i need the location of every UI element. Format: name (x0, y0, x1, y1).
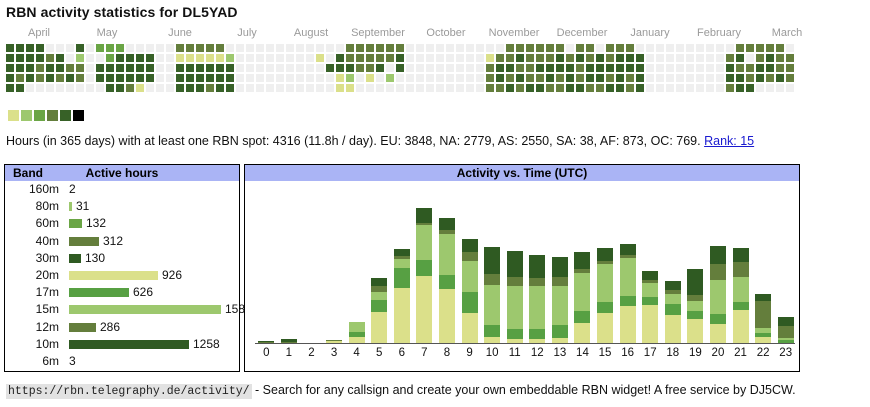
heatmap-day-cell[interactable] (506, 84, 514, 92)
heatmap-day-cell[interactable] (786, 64, 794, 72)
heatmap-day-cell[interactable] (166, 54, 174, 62)
heatmap-day-cell[interactable] (736, 64, 744, 72)
heatmap-day-cell[interactable] (316, 84, 324, 92)
heatmap-day-cell[interactable] (196, 64, 204, 72)
heatmap-day-cell[interactable] (86, 54, 94, 62)
heatmap-day-cell[interactable] (236, 84, 244, 92)
heatmap-day-cell[interactable] (626, 44, 634, 52)
heatmap-day-cell[interactable] (566, 64, 574, 72)
heatmap-day-cell[interactable] (136, 44, 144, 52)
heatmap-day-cell[interactable] (256, 74, 264, 82)
hour-bar[interactable] (371, 278, 387, 343)
heatmap-day-cell[interactable] (546, 64, 554, 72)
heatmap-day-cell[interactable] (286, 64, 294, 72)
heatmap-day-cell[interactable] (196, 74, 204, 82)
heatmap-day-cell[interactable] (286, 54, 294, 62)
heatmap-day-cell[interactable] (186, 54, 194, 62)
hour-bar[interactable] (439, 218, 455, 343)
heatmap-day-cell[interactable] (556, 44, 564, 52)
heatmap-day-cell[interactable] (616, 64, 624, 72)
heatmap-day-cell[interactable] (716, 54, 724, 62)
heatmap-day-cell[interactable] (786, 74, 794, 82)
heatmap-day-cell[interactable] (86, 64, 94, 72)
heatmap-day-cell[interactable] (536, 54, 544, 62)
heatmap-day-cell[interactable] (46, 44, 54, 52)
heatmap-day-cell[interactable] (376, 44, 384, 52)
heatmap-day-cell[interactable] (426, 64, 434, 72)
heatmap-day-cell[interactable] (46, 74, 54, 82)
heatmap-day-cell[interactable] (596, 54, 604, 62)
heatmap-day-cell[interactable] (96, 74, 104, 82)
heatmap-day-cell[interactable] (726, 54, 734, 62)
heatmap-day-cell[interactable] (386, 74, 394, 82)
heatmap-day-cell[interactable] (626, 54, 634, 62)
heatmap-day-cell[interactable] (756, 54, 764, 62)
heatmap-day-cell[interactable] (156, 74, 164, 82)
heatmap-day-cell[interactable] (156, 64, 164, 72)
heatmap-day-cell[interactable] (786, 44, 794, 52)
heatmap-day-cell[interactable] (426, 54, 434, 62)
heatmap-day-cell[interactable] (506, 64, 514, 72)
heatmap-day-cell[interactable] (136, 54, 144, 62)
heatmap-day-cell[interactable] (516, 44, 524, 52)
heatmap-day-cell[interactable] (336, 44, 344, 52)
heatmap-day-cell[interactable] (306, 74, 314, 82)
heatmap-day-cell[interactable] (336, 54, 344, 62)
heatmap-day-cell[interactable] (526, 64, 534, 72)
heatmap-day-cell[interactable] (116, 74, 124, 82)
heatmap-day-cell[interactable] (96, 54, 104, 62)
heatmap-day-cell[interactable] (606, 54, 614, 62)
heatmap-day-cell[interactable] (146, 74, 154, 82)
heatmap-day-cell[interactable] (216, 54, 224, 62)
heatmap-day-cell[interactable] (446, 64, 454, 72)
heatmap-day-cell[interactable] (306, 54, 314, 62)
heatmap-day-cell[interactable] (676, 54, 684, 62)
heatmap-day-cell[interactable] (16, 84, 24, 92)
heatmap-day-cell[interactable] (316, 44, 324, 52)
heatmap-day-cell[interactable] (76, 74, 84, 82)
heatmap-day-cell[interactable] (336, 84, 344, 92)
hour-bar[interactable] (755, 294, 771, 343)
heatmap-day-cell[interactable] (306, 64, 314, 72)
heatmap-day-cell[interactable] (546, 44, 554, 52)
heatmap-day-cell[interactable] (116, 44, 124, 52)
heatmap-day-cell[interactable] (356, 44, 364, 52)
heatmap-day-cell[interactable] (516, 74, 524, 82)
heatmap-day-cell[interactable] (36, 64, 44, 72)
heatmap-day-cell[interactable] (406, 64, 414, 72)
heatmap-day-cell[interactable] (706, 64, 714, 72)
heatmap-day-cell[interactable] (696, 64, 704, 72)
heatmap-day-cell[interactable] (686, 54, 694, 62)
heatmap-day-cell[interactable] (676, 84, 684, 92)
heatmap-day-cell[interactable] (406, 44, 414, 52)
hour-bar[interactable] (597, 248, 613, 343)
heatmap-day-cell[interactable] (536, 84, 544, 92)
heatmap-day-cell[interactable] (746, 54, 754, 62)
heatmap-day-cell[interactable] (786, 84, 794, 92)
heatmap-day-cell[interactable] (516, 54, 524, 62)
heatmap-day-cell[interactable] (26, 64, 34, 72)
heatmap-day-cell[interactable] (206, 54, 214, 62)
heatmap-day-cell[interactable] (136, 64, 144, 72)
heatmap-day-cell[interactable] (776, 74, 784, 82)
heatmap-day-cell[interactable] (176, 64, 184, 72)
heatmap-day-cell[interactable] (26, 54, 34, 62)
heatmap-day-cell[interactable] (426, 84, 434, 92)
heatmap-day-cell[interactable] (716, 44, 724, 52)
heatmap-day-cell[interactable] (646, 54, 654, 62)
heatmap-day-cell[interactable] (126, 54, 134, 62)
heatmap-day-cell[interactable] (306, 84, 314, 92)
heatmap-day-cell[interactable] (626, 74, 634, 82)
heatmap-day-cell[interactable] (456, 74, 464, 82)
heatmap-day-cell[interactable] (776, 54, 784, 62)
heatmap-day-cell[interactable] (596, 64, 604, 72)
heatmap-day-cell[interactable] (486, 64, 494, 72)
hour-bar[interactable] (687, 269, 703, 343)
heatmap-day-cell[interactable] (66, 44, 74, 52)
heatmap-day-cell[interactable] (676, 44, 684, 52)
heatmap-day-cell[interactable] (266, 64, 274, 72)
heatmap-day-cell[interactable] (226, 44, 234, 52)
heatmap-day-cell[interactable] (106, 54, 114, 62)
heatmap-day-cell[interactable] (286, 84, 294, 92)
hour-bar[interactable] (574, 252, 590, 343)
heatmap-day-cell[interactable] (106, 84, 114, 92)
heatmap-day-cell[interactable] (316, 64, 324, 72)
heatmap-day-cell[interactable] (96, 44, 104, 52)
heatmap-day-cell[interactable] (686, 44, 694, 52)
heatmap-day-cell[interactable] (566, 44, 574, 52)
heatmap-day-cell[interactable] (716, 74, 724, 82)
heatmap-day-cell[interactable] (56, 74, 64, 82)
heatmap-day-cell[interactable] (446, 74, 454, 82)
heatmap-day-cell[interactable] (86, 74, 94, 82)
heatmap-day-cell[interactable] (556, 74, 564, 82)
heatmap-day-cell[interactable] (246, 54, 254, 62)
heatmap-day-cell[interactable] (176, 84, 184, 92)
heatmap-day-cell[interactable] (606, 64, 614, 72)
heatmap-day-cell[interactable] (526, 84, 534, 92)
heatmap-day-cell[interactable] (476, 74, 484, 82)
heatmap-day-cell[interactable] (556, 84, 564, 92)
heatmap-day-cell[interactable] (376, 84, 384, 92)
heatmap-day-cell[interactable] (216, 64, 224, 72)
heatmap-day-cell[interactable] (416, 64, 424, 72)
heatmap-day-cell[interactable] (16, 44, 24, 52)
heatmap-day-cell[interactable] (76, 44, 84, 52)
heatmap-day-cell[interactable] (236, 54, 244, 62)
heatmap-day-cell[interactable] (216, 74, 224, 82)
heatmap-day-cell[interactable] (406, 84, 414, 92)
hour-bar[interactable] (394, 249, 410, 343)
heatmap-day-cell[interactable] (196, 44, 204, 52)
heatmap-day-cell[interactable] (546, 74, 554, 82)
heatmap-day-cell[interactable] (656, 44, 664, 52)
heatmap-day-cell[interactable] (216, 84, 224, 92)
heatmap-day-cell[interactable] (146, 84, 154, 92)
heatmap-day-cell[interactable] (166, 74, 174, 82)
heatmap-day-cell[interactable] (426, 74, 434, 82)
heatmap-day-cell[interactable] (566, 54, 574, 62)
hour-bar[interactable] (620, 244, 636, 343)
heatmap-day-cell[interactable] (76, 64, 84, 72)
heatmap-day-cell[interactable] (346, 64, 354, 72)
heatmap-day-cell[interactable] (756, 74, 764, 82)
heatmap-day-cell[interactable] (46, 54, 54, 62)
heatmap-day-cell[interactable] (326, 84, 334, 92)
heatmap-day-cell[interactable] (696, 54, 704, 62)
heatmap-day-cell[interactable] (596, 44, 604, 52)
heatmap-day-cell[interactable] (636, 44, 644, 52)
hour-bar[interactable] (462, 239, 478, 343)
heatmap-day-cell[interactable] (606, 84, 614, 92)
heatmap-day-cell[interactable] (266, 54, 274, 62)
heatmap-day-cell[interactable] (486, 44, 494, 52)
heatmap-day-cell[interactable] (576, 64, 584, 72)
heatmap-day-cell[interactable] (126, 44, 134, 52)
heatmap-day-cell[interactable] (766, 64, 774, 72)
heatmap-day-cell[interactable] (456, 64, 464, 72)
heatmap-day-cell[interactable] (186, 74, 194, 82)
heatmap-day-cell[interactable] (436, 44, 444, 52)
heatmap-day-cell[interactable] (206, 74, 214, 82)
heatmap-day-cell[interactable] (296, 44, 304, 52)
hour-bar[interactable] (529, 255, 545, 343)
heatmap-day-cell[interactable] (426, 44, 434, 52)
heatmap-day-cell[interactable] (166, 64, 174, 72)
heatmap-day-cell[interactable] (676, 74, 684, 82)
heatmap-day-cell[interactable] (126, 84, 134, 92)
heatmap-day-cell[interactable] (276, 54, 284, 62)
heatmap-day-cell[interactable] (636, 84, 644, 92)
heatmap-day-cell[interactable] (546, 54, 554, 62)
heatmap-day-cell[interactable] (246, 44, 254, 52)
heatmap-day-cell[interactable] (116, 64, 124, 72)
heatmap-day-cell[interactable] (766, 74, 774, 82)
heatmap-day-cell[interactable] (746, 74, 754, 82)
heatmap-day-cell[interactable] (446, 44, 454, 52)
heatmap-day-cell[interactable] (26, 44, 34, 52)
heatmap-day-cell[interactable] (36, 74, 44, 82)
heatmap-day-cell[interactable] (616, 84, 624, 92)
heatmap-day-cell[interactable] (506, 74, 514, 82)
heatmap-day-cell[interactable] (206, 64, 214, 72)
heatmap-day-cell[interactable] (226, 84, 234, 92)
heatmap-day-cell[interactable] (196, 54, 204, 62)
heatmap-day-cell[interactable] (126, 74, 134, 82)
heatmap-day-cell[interactable] (356, 84, 364, 92)
heatmap-day-cell[interactable] (66, 64, 74, 72)
heatmap-day-cell[interactable] (46, 84, 54, 92)
heatmap-day-cell[interactable] (606, 44, 614, 52)
heatmap-day-cell[interactable] (706, 74, 714, 82)
heatmap-day-cell[interactable] (776, 44, 784, 52)
heatmap-day-cell[interactable] (356, 74, 364, 82)
heatmap-day-cell[interactable] (586, 64, 594, 72)
heatmap-day-cell[interactable] (366, 74, 374, 82)
heatmap-day-cell[interactable] (526, 54, 534, 62)
heatmap-day-cell[interactable] (36, 84, 44, 92)
heatmap-day-cell[interactable] (766, 84, 774, 92)
heatmap-day-cell[interactable] (516, 64, 524, 72)
heatmap-day-cell[interactable] (526, 44, 534, 52)
heatmap-day-cell[interactable] (76, 84, 84, 92)
heatmap-day-cell[interactable] (56, 84, 64, 92)
heatmap-day-cell[interactable] (636, 64, 644, 72)
heatmap-day-cell[interactable] (646, 44, 654, 52)
heatmap-day-cell[interactable] (136, 74, 144, 82)
heatmap-day-cell[interactable] (296, 84, 304, 92)
heatmap-day-cell[interactable] (446, 54, 454, 62)
heatmap-day-cell[interactable] (476, 84, 484, 92)
heatmap-day-cell[interactable] (706, 54, 714, 62)
heatmap-day-cell[interactable] (126, 64, 134, 72)
heatmap-day-cell[interactable] (416, 44, 424, 52)
hour-bar[interactable] (710, 246, 726, 343)
heatmap-day-cell[interactable] (326, 64, 334, 72)
heatmap-day-cell[interactable] (456, 44, 464, 52)
heatmap-day-cell[interactable] (616, 74, 624, 82)
heatmap-day-cell[interactable] (176, 44, 184, 52)
heatmap-day-cell[interactable] (666, 54, 674, 62)
hour-bar[interactable] (642, 271, 658, 343)
heatmap-day-cell[interactable] (576, 84, 584, 92)
heatmap-day-cell[interactable] (386, 54, 394, 62)
heatmap-day-cell[interactable] (286, 74, 294, 82)
heatmap-day-cell[interactable] (266, 84, 274, 92)
heatmap-day-cell[interactable] (456, 84, 464, 92)
heatmap-day-cell[interactable] (296, 54, 304, 62)
heatmap-day-cell[interactable] (106, 74, 114, 82)
heatmap-day-cell[interactable] (206, 84, 214, 92)
heatmap-day-cell[interactable] (466, 54, 474, 62)
heatmap-day-cell[interactable] (606, 74, 614, 82)
heatmap-day-cell[interactable] (186, 64, 194, 72)
heatmap-day-cell[interactable] (766, 54, 774, 62)
heatmap-day-cell[interactable] (396, 74, 404, 82)
hour-bar[interactable] (778, 317, 794, 343)
heatmap-day-cell[interactable] (396, 84, 404, 92)
heatmap-day-cell[interactable] (106, 44, 114, 52)
heatmap-day-cell[interactable] (6, 84, 14, 92)
heatmap-day-cell[interactable] (586, 84, 594, 92)
heatmap-day-cell[interactable] (476, 54, 484, 62)
heatmap-day-cell[interactable] (576, 44, 584, 52)
heatmap-day-cell[interactable] (26, 74, 34, 82)
heatmap-day-cell[interactable] (466, 64, 474, 72)
heatmap-day-cell[interactable] (716, 84, 724, 92)
heatmap-day-cell[interactable] (436, 64, 444, 72)
heatmap-day-cell[interactable] (536, 64, 544, 72)
heatmap-day-cell[interactable] (316, 74, 324, 82)
heatmap-day-cell[interactable] (346, 84, 354, 92)
heatmap-day-cell[interactable] (226, 64, 234, 72)
heatmap-day-cell[interactable] (776, 64, 784, 72)
heatmap-day-cell[interactable] (166, 44, 174, 52)
heatmap-day-cell[interactable] (436, 74, 444, 82)
heatmap-day-cell[interactable] (6, 74, 14, 82)
heatmap-day-cell[interactable] (376, 74, 384, 82)
heatmap-day-cell[interactable] (156, 84, 164, 92)
heatmap-day-cell[interactable] (286, 44, 294, 52)
heatmap-day-cell[interactable] (706, 44, 714, 52)
heatmap-day-cell[interactable] (6, 54, 14, 62)
heatmap-day-cell[interactable] (256, 84, 264, 92)
heatmap-day-cell[interactable] (466, 74, 474, 82)
heatmap-day-cell[interactable] (266, 74, 274, 82)
heatmap-day-cell[interactable] (186, 44, 194, 52)
heatmap-day-cell[interactable] (506, 44, 514, 52)
heatmap-day-cell[interactable] (536, 74, 544, 82)
heatmap-day-cell[interactable] (326, 74, 334, 82)
heatmap-day-cell[interactable] (706, 84, 714, 92)
hour-bar[interactable] (665, 281, 681, 343)
heatmap-day-cell[interactable] (596, 74, 604, 82)
heatmap-day-cell[interactable] (306, 44, 314, 52)
heatmap-day-cell[interactable] (656, 64, 664, 72)
heatmap-day-cell[interactable] (116, 84, 124, 92)
heatmap-day-cell[interactable] (626, 64, 634, 72)
heatmap-day-cell[interactable] (496, 64, 504, 72)
heatmap-day-cell[interactable] (146, 64, 154, 72)
heatmap-day-cell[interactable] (366, 64, 374, 72)
heatmap-day-cell[interactable] (96, 64, 104, 72)
heatmap-day-cell[interactable] (346, 44, 354, 52)
heatmap-day-cell[interactable] (266, 44, 274, 52)
heatmap-day-cell[interactable] (176, 54, 184, 62)
heatmap-day-cell[interactable] (16, 74, 24, 82)
heatmap-day-cell[interactable] (406, 74, 414, 82)
heatmap-day-cell[interactable] (496, 84, 504, 92)
heatmap-day-cell[interactable] (576, 54, 584, 62)
heatmap-day-cell[interactable] (746, 44, 754, 52)
heatmap-day-cell[interactable] (376, 54, 384, 62)
heatmap-day-cell[interactable] (696, 44, 704, 52)
heatmap-day-cell[interactable] (486, 84, 494, 92)
heatmap-day-cell[interactable] (436, 54, 444, 62)
heatmap-day-cell[interactable] (626, 84, 634, 92)
heatmap-day-cell[interactable] (616, 54, 624, 62)
heatmap-day-cell[interactable] (56, 54, 64, 62)
heatmap-day-cell[interactable] (566, 84, 574, 92)
heatmap-day-cell[interactable] (246, 84, 254, 92)
heatmap-day-cell[interactable] (6, 64, 14, 72)
heatmap-day-cell[interactable] (756, 84, 764, 92)
heatmap-day-cell[interactable] (226, 54, 234, 62)
heatmap-day-cell[interactable] (656, 84, 664, 92)
heatmap-day-cell[interactable] (656, 74, 664, 82)
heatmap-day-cell[interactable] (756, 44, 764, 52)
heatmap-day-cell[interactable] (496, 74, 504, 82)
heatmap-day-cell[interactable] (696, 74, 704, 82)
heatmap-day-cell[interactable] (636, 74, 644, 82)
heatmap-day-cell[interactable] (726, 74, 734, 82)
heatmap-day-cell[interactable] (416, 54, 424, 62)
heatmap-day-cell[interactable] (736, 54, 744, 62)
heatmap-day-cell[interactable] (366, 84, 374, 92)
heatmap-day-cell[interactable] (746, 84, 754, 92)
heatmap-day-cell[interactable] (6, 44, 14, 52)
heatmap-day-cell[interactable] (236, 64, 244, 72)
heatmap-day-cell[interactable] (736, 44, 744, 52)
heatmap-day-cell[interactable] (176, 74, 184, 82)
heatmap-day-cell[interactable] (436, 84, 444, 92)
heatmap-day-cell[interactable] (156, 44, 164, 52)
heatmap-day-cell[interactable] (336, 64, 344, 72)
